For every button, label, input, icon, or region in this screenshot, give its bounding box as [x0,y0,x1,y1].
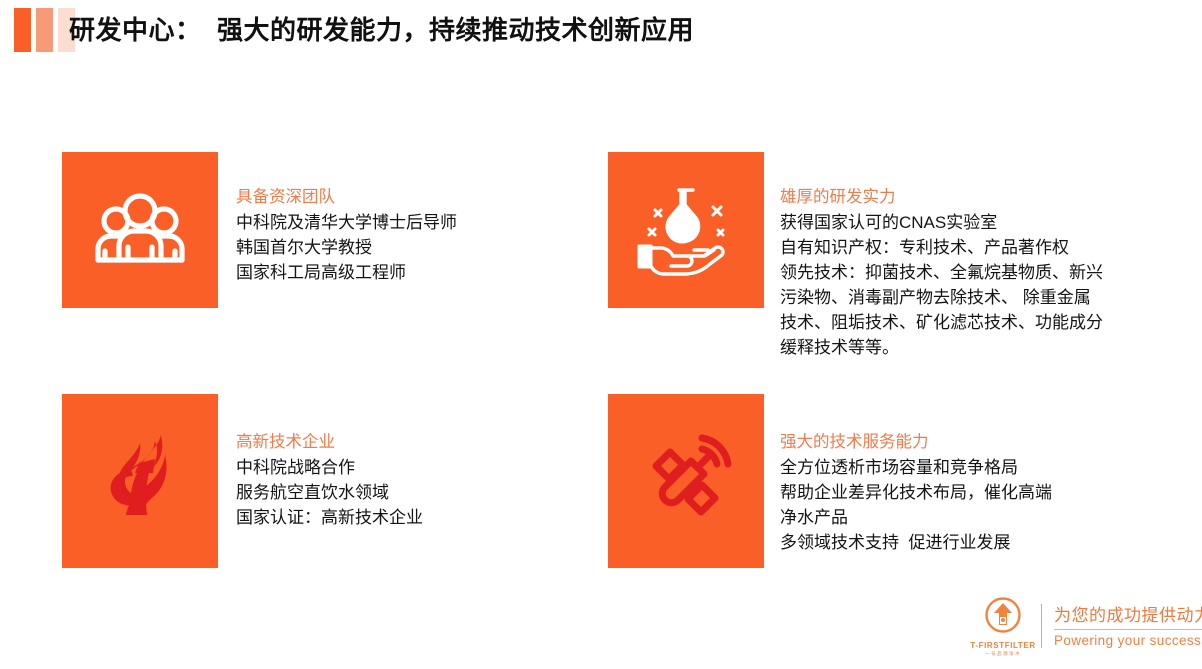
card-hightech-title: 高新技术企业 [236,430,423,454]
tagline-rule [1054,629,1202,630]
card-team-icon-tile [62,152,218,308]
card-rd-text: 雄厚的研发实力 获得国家认可的CNAS实验室 自有知识产权：专利技术、产品著作权… [780,185,1103,360]
people-group-icon [92,188,188,273]
card-hightech-line-1: 中科院战略合作 [236,455,423,480]
card-hightech-line-3: 国家认证：高新技术企业 [236,505,423,530]
header-accent-bars [14,8,75,52]
footer-brand-logo: T-FIRSTFILTER 一号品源净水 为您的成功提供动力 Powering … [973,591,1202,661]
card-rd-line-1: 获得国家认可的CNAS实验室 [780,210,1103,235]
card-hightech-text: 高新技术企业 中科院战略合作 服务航空直饮水领域 国家认证：高新技术企业 [236,430,423,530]
card-team-line-3: 国家科工局高级工程师 [236,260,457,285]
card-hightech-line-2: 服务航空直饮水领域 [236,480,423,505]
card-rd-title: 雄厚的研发实力 [780,185,1103,209]
card-team-title: 具备资深团队 [236,185,457,209]
card-service-text: 强大的技术服务能力 全方位透析市场容量和竞争格局 帮助企业差异化技术布局，催化高… [780,430,1052,555]
card-rd-line-2: 自有知识产权：专利技术、产品著作权 [780,235,1103,260]
card-service-line-3: 净水产品 [780,505,1052,530]
logo-mark: T-FIRSTFILTER 一号品源净水 [973,595,1033,657]
header-bar-2-icon [36,8,53,52]
logo-wordmark: T-FIRSTFILTER [970,641,1035,650]
card-rd-line-6: 缓释技术等等。 [780,335,1103,360]
card-team-line-2: 韩国首尔大学教授 [236,235,457,260]
card-team-line-1: 中科院及清华大学博士后导师 [236,210,457,235]
card-service-line-1: 全方位透析市场容量和竞争格局 [780,455,1052,480]
card-team-text: 具备资深团队 中科院及清华大学博士后导师 韩国首尔大学教授 国家科工局高级工程师 [236,185,457,285]
logo-divider [1041,604,1042,648]
circle-arrow-logo-icon [983,595,1023,640]
torch-flame-logo-icon [95,429,185,534]
page-title: 研发中心： 强大的研发能力，持续推动技术创新应用 [69,9,694,51]
card-service-icon-tile [608,394,764,568]
header-bar-1-icon [14,8,31,52]
satellite-signal-icon [636,429,736,534]
card-rd-line-4: 污染物、消毒副产物去除技术、 除重金属 [780,285,1103,310]
card-rd-line-3: 领先技术：抑菌技术、全氟烷基物质、新兴 [780,260,1103,285]
card-hightech-icon-tile [62,394,218,568]
hand-holding-flask-icon [634,180,738,281]
tagline-chinese: 为您的成功提供动力 [1054,604,1202,627]
card-rd-icon-tile [608,152,764,308]
tagline-english: Powering your success [1054,633,1202,649]
card-service-line-4: 多领域技术支持 促进行业发展 [780,530,1052,555]
card-service-line-2: 帮助企业差异化技术布局，催化高端 [780,480,1052,505]
logo-taglines: 为您的成功提供动力 Powering your success [1054,604,1202,649]
slide-header: 研发中心： 强大的研发能力，持续推动技术创新应用 [0,0,1202,60]
card-service-title: 强大的技术服务能力 [780,430,1052,454]
card-rd-line-5: 技术、阻垢技术、矿化滤芯技术、功能成分 [780,310,1103,335]
logo-subword: 一号品源净水 [985,651,1021,657]
